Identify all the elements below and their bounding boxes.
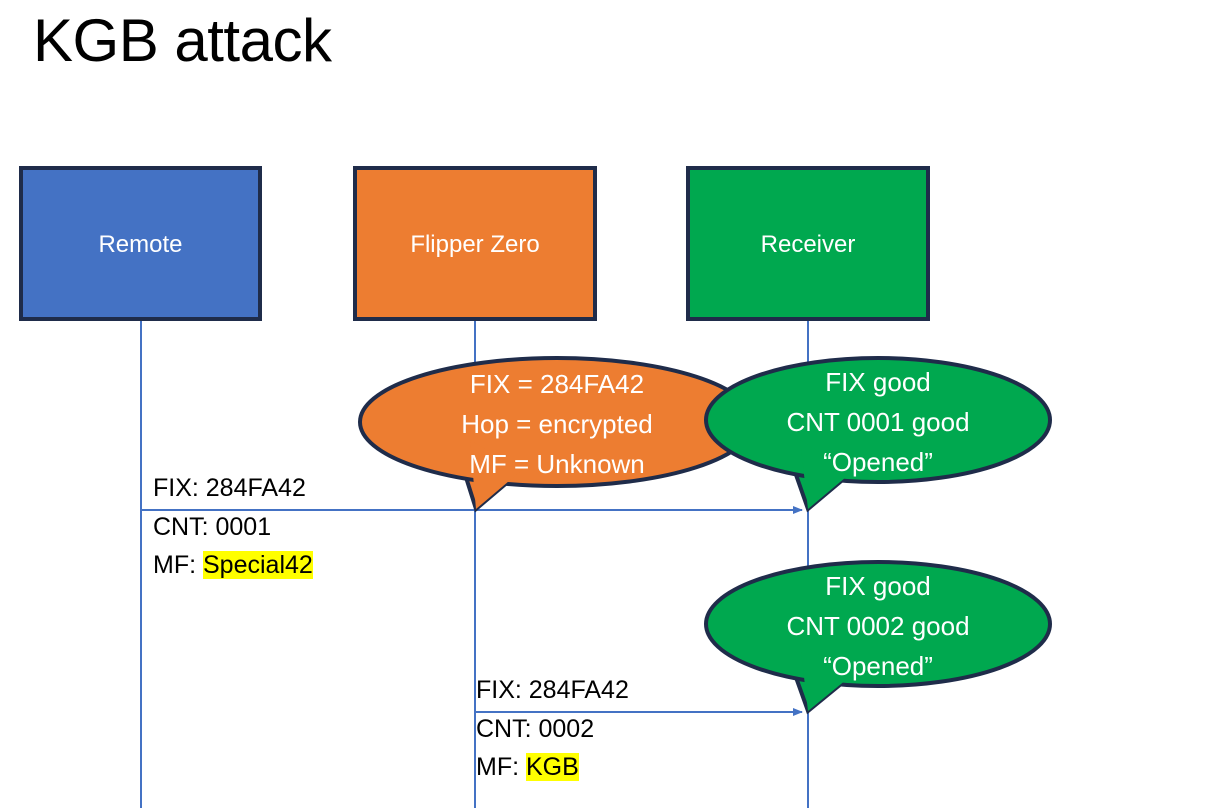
- message-2-mf-value: KGB: [526, 753, 579, 781]
- callout-body-orange: [360, 358, 754, 486]
- callout-body-green-1: [706, 358, 1050, 482]
- message-1-line-1: FIX: 284FA42: [153, 469, 306, 507]
- callout-receiver-first[interactable]: [706, 358, 1050, 509]
- message-1-line-2: CNT: 0001: [153, 508, 271, 546]
- message-2-line-2: CNT: 0002: [476, 710, 594, 748]
- message-2-line-1: FIX: 284FA42: [476, 671, 629, 709]
- message-2-mf-prefix: MF:: [476, 753, 526, 781]
- slide-canvas: KGB attack: [0, 0, 1218, 808]
- message-1-mf-prefix: MF:: [153, 551, 203, 579]
- callout-receiver-second[interactable]: [706, 562, 1050, 711]
- message-2-line-3: MF: KGB: [476, 748, 579, 786]
- message-1-mf-value: Special42: [203, 551, 313, 579]
- lane-box-remote[interactable]: [21, 168, 260, 319]
- lane-box-receiver[interactable]: [688, 168, 928, 319]
- message-1-line-3: MF: Special42: [153, 546, 313, 584]
- callout-flipper-sniff[interactable]: [360, 358, 754, 509]
- lane-box-flipper[interactable]: [355, 168, 595, 319]
- callout-body-green-2: [706, 562, 1050, 686]
